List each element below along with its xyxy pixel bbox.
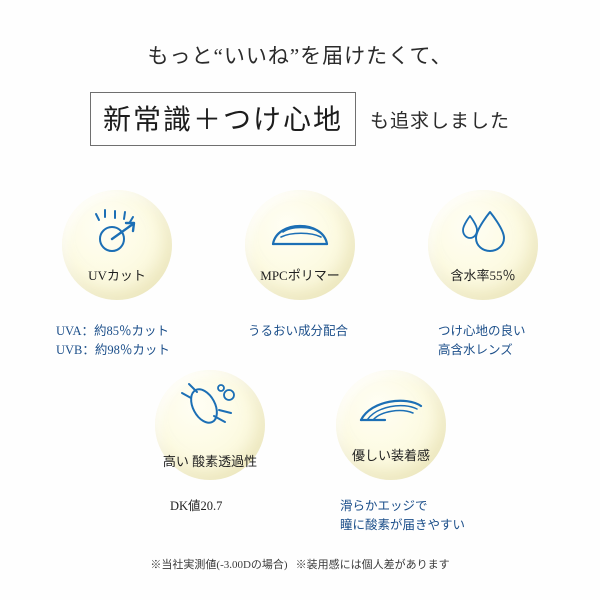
feature-caption-oxygen-permeability: DK値20.7 (170, 497, 222, 516)
lens-curve-icon (245, 206, 355, 259)
feature-label-uv-cut: UVカット (62, 268, 172, 284)
subheadline-boxed-text: 新常識＋つけ心地 (90, 92, 356, 146)
feature-caption-gentle-fit: 滑らかエッジで 瞳に酸素が届きやすい (340, 497, 465, 536)
smooth-edge-icon (336, 390, 446, 435)
feature-bubble-mpc-polymer: MPCポリマー (245, 190, 355, 300)
feature-bubble-gentle-fit: 優しい装着感 (336, 370, 446, 480)
sun-uv-icon (62, 206, 172, 263)
footnote-individual-differences: ※装用感には個人差があります (296, 559, 450, 571)
footnotes: ※当社実測値(-3.00Dの場合)※装用感には個人差があります (0, 556, 600, 572)
footnote-measurement: ※当社実測値(-3.00Dの場合) (150, 559, 287, 571)
feature-bubble-water-content: 含水率55％ (428, 190, 538, 300)
feature-label-water-content: 含水率55％ (428, 268, 538, 284)
subheadline-tail-text: も追求しました (370, 106, 510, 133)
subheadline: 新常識＋つけ心地も追求しました (0, 92, 600, 146)
feature-bubble-oxygen-permeability: 高い 酸素透過性 (155, 370, 265, 480)
feature-caption-water-content: つけ心地の良い 高含水レンズ (438, 322, 526, 361)
feature-caption-uv-cut: UVA：約85％カット UVB：約98％カット (56, 322, 170, 361)
promo-page: もっと“いいね”を届けたくて、 新常識＋つけ心地も追求しました UVカット UV… (0, 0, 600, 600)
feature-label-oxygen-permeability: 高い 酸素透過性 (155, 454, 265, 470)
headline-line1: もっと“いいね”を届けたくて、 (0, 40, 600, 70)
oxygen-lens-icon (155, 382, 265, 435)
water-drop-icon (428, 206, 538, 261)
feature-bubble-uv-cut: UVカット (62, 190, 172, 300)
feature-caption-mpc-polymer: うるおい成分配合 (248, 322, 348, 341)
feature-label-gentle-fit: 優しい装着感 (336, 448, 446, 464)
feature-label-mpc-polymer: MPCポリマー (245, 268, 355, 284)
